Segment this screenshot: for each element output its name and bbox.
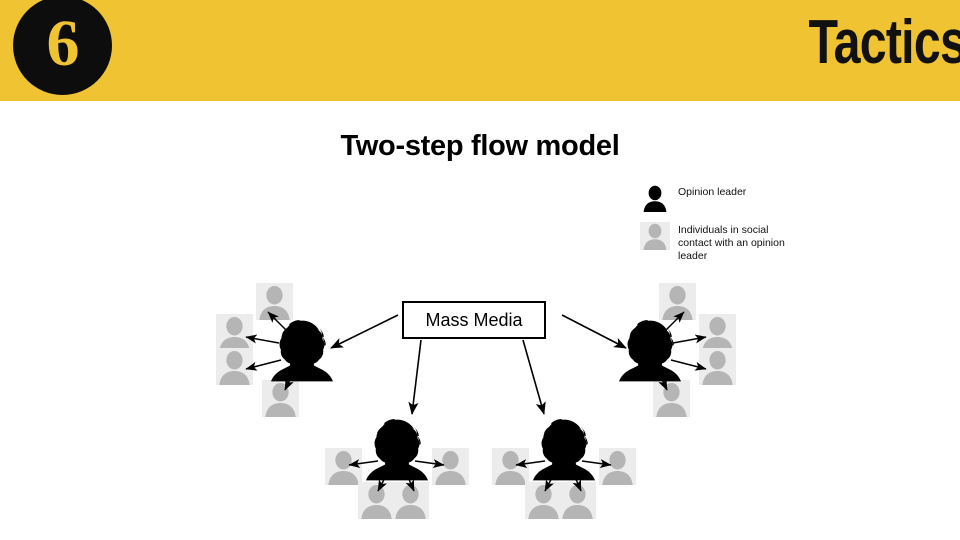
slide-number-badge: 6 [13, 0, 112, 95]
legend-item-individuals: Individuals in social contact with an op… [640, 222, 940, 263]
legend: Opinion leader Individuals in social con… [640, 184, 940, 273]
opinion-leader-icon [366, 419, 428, 480]
legend-item-opinion-leader: Opinion leader [640, 184, 940, 212]
follower-icon [599, 448, 636, 485]
follower-icon [216, 348, 253, 385]
person-black-icon [640, 184, 670, 212]
mass-media-label: Mass Media [425, 310, 522, 331]
slide-canvas: 6 Tactics Two-step flow model Opinion le… [0, 0, 960, 540]
follower-icon [659, 283, 696, 320]
person-gray-icon [640, 222, 670, 250]
follower-icon [256, 283, 293, 320]
legend-label-opinion-leader: Opinion leader [678, 184, 746, 199]
slide-title: Two-step flow model [0, 130, 960, 163]
follower-icon [653, 380, 690, 417]
cluster-bottom-left [325, 419, 469, 519]
follower-icon [392, 482, 429, 519]
cluster-left [216, 283, 333, 417]
follower-icon [559, 482, 596, 519]
cluster-bottom-right [492, 419, 636, 519]
cluster-right [619, 283, 736, 417]
opinion-leader-icon [619, 320, 681, 381]
follower-icon [262, 380, 299, 417]
follower-icon [699, 348, 736, 385]
follower-icon [325, 448, 362, 485]
opinion-leader-icon [271, 320, 333, 381]
opinion-leader-icon [533, 419, 595, 480]
follower-icon [432, 448, 469, 485]
follower-icon [358, 482, 395, 519]
follower-icon [699, 314, 736, 351]
mass-media-node: Mass Media [402, 301, 546, 339]
follower-icon [216, 314, 253, 351]
slide-number: 6 [47, 11, 79, 77]
page-title: Tactics [808, 4, 960, 82]
follower-icon [525, 482, 562, 519]
legend-label-individuals: Individuals in social contact with an op… [678, 222, 796, 263]
header-band: 6 Tactics [0, 0, 960, 101]
follower-icon [492, 448, 529, 485]
